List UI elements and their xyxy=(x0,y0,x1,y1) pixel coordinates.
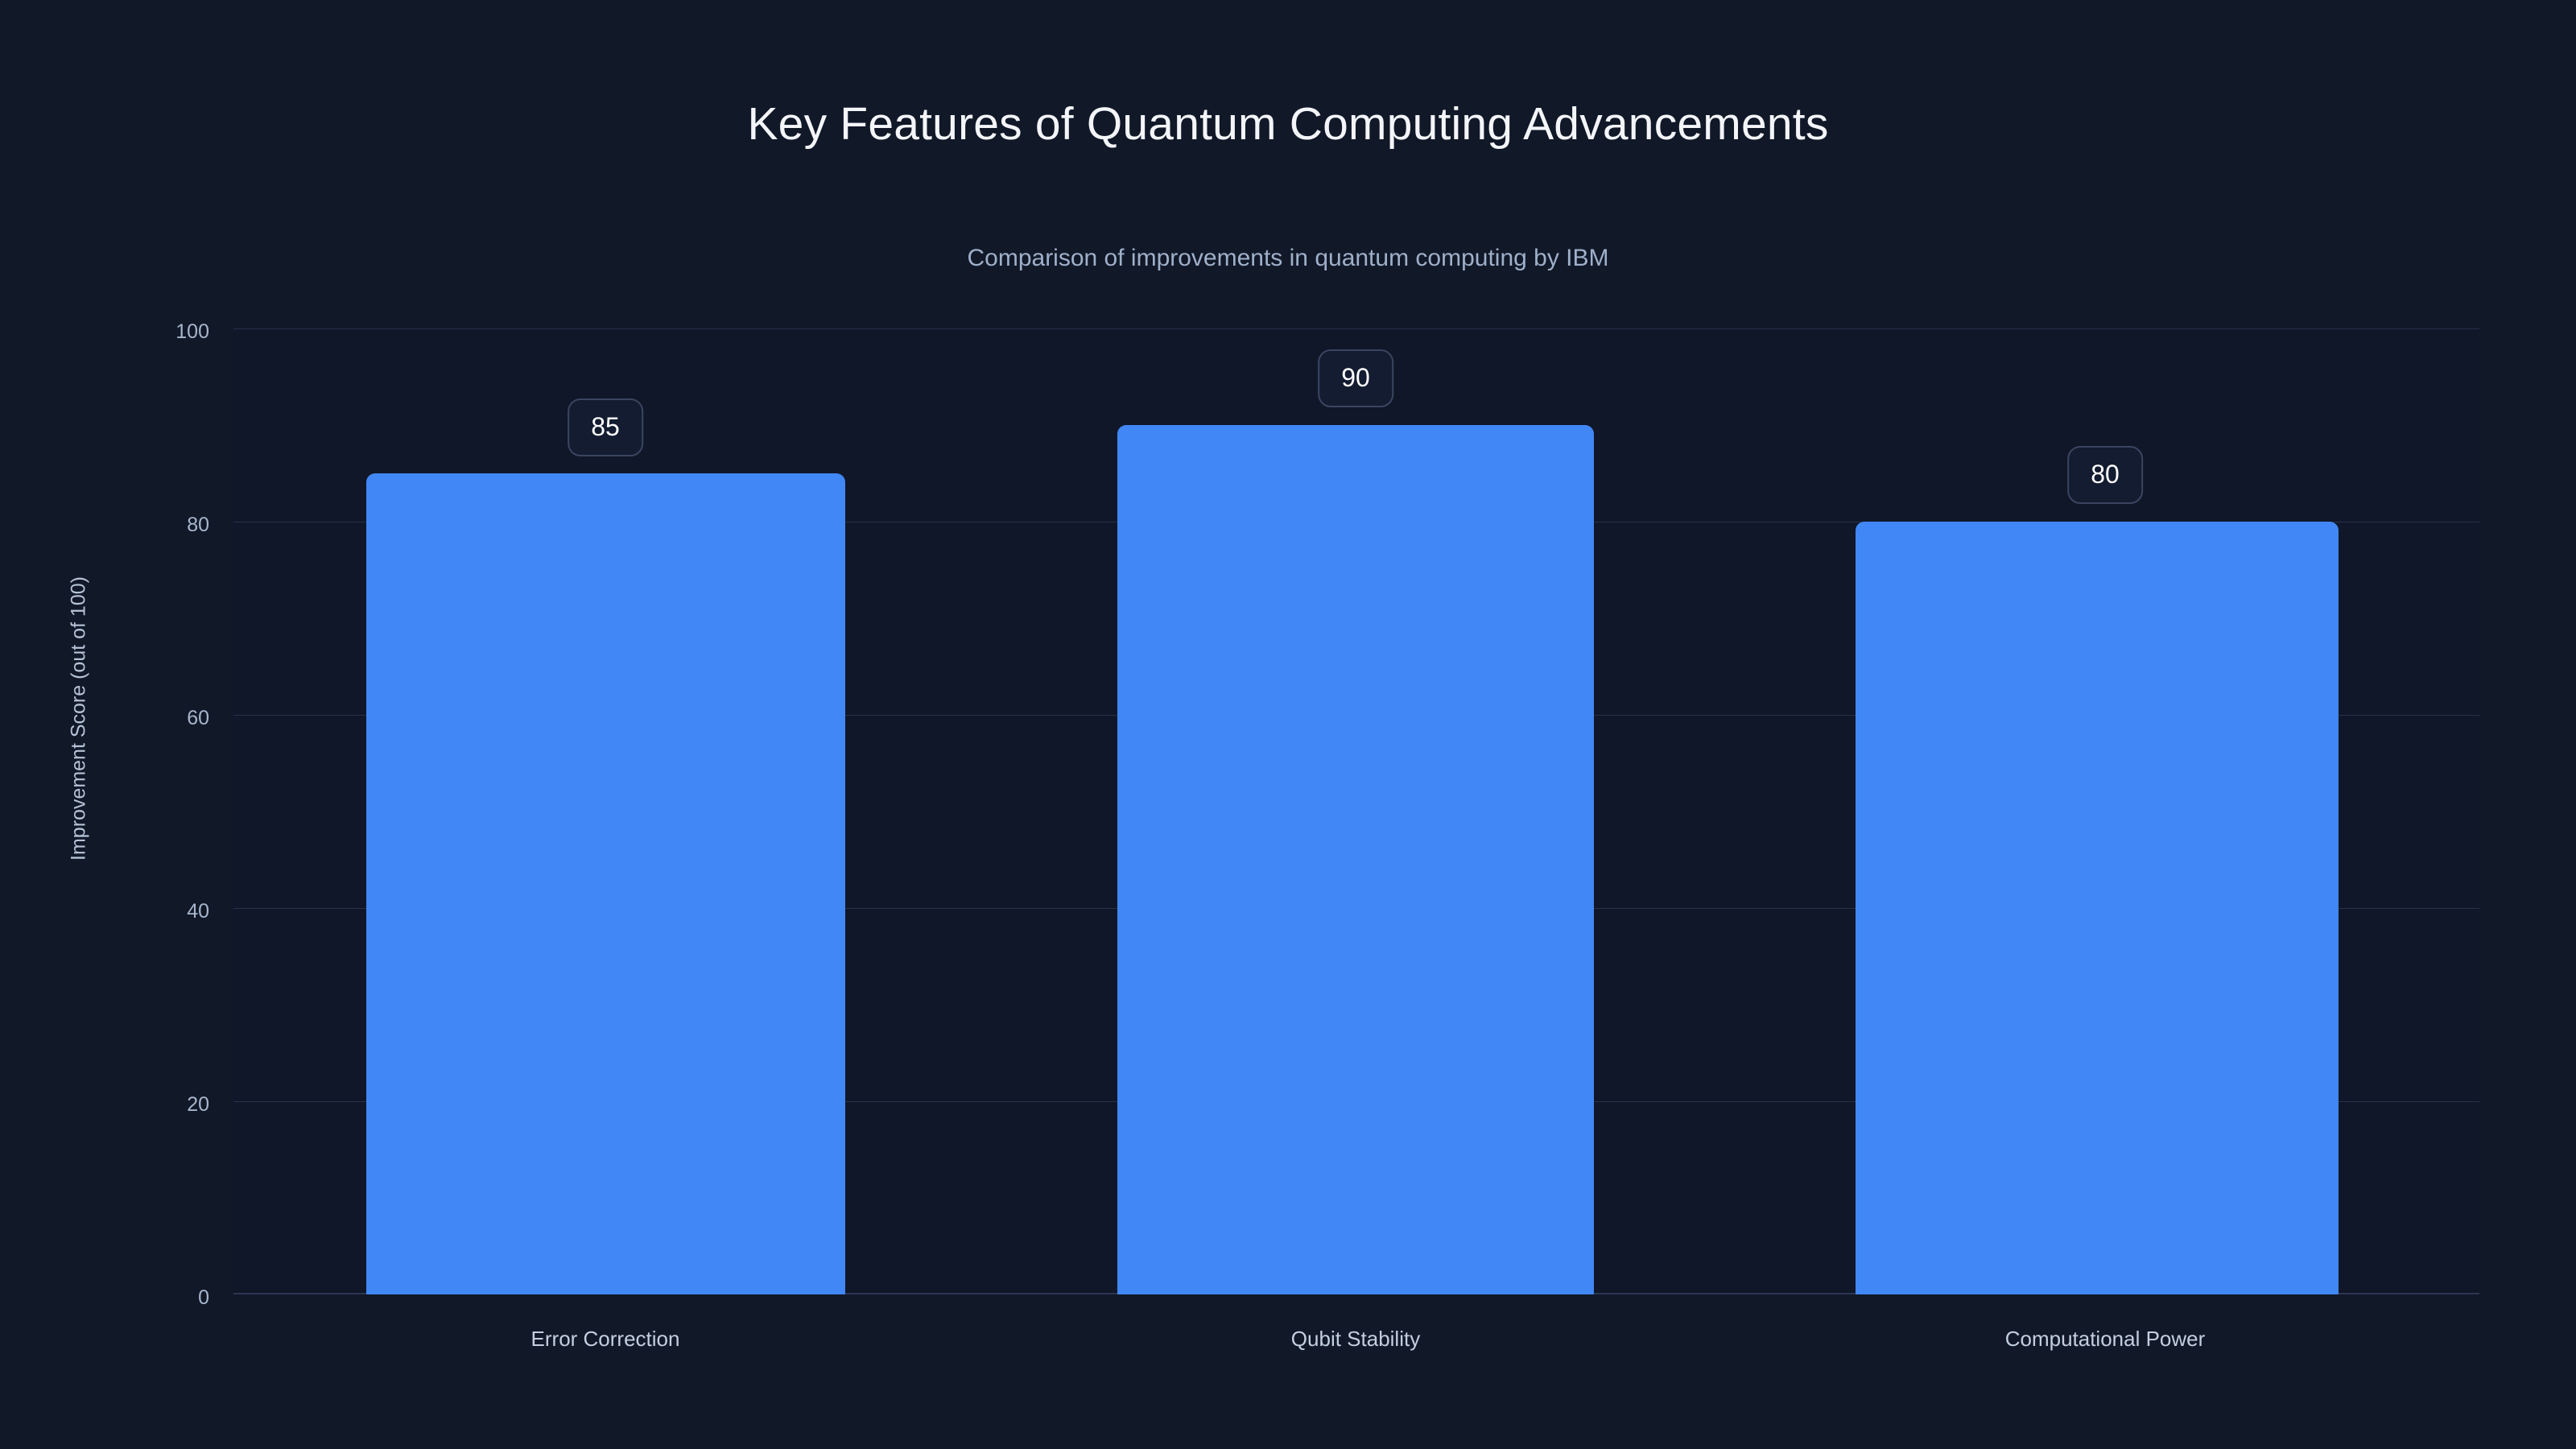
bar-computational-power[interactable] xyxy=(1856,522,2339,1294)
x-tick-label-error-correction: Error Correction xyxy=(531,1328,680,1349)
bar-error-correction[interactable] xyxy=(366,473,845,1294)
x-tick-label-computational-power: Computational Power xyxy=(2005,1328,2206,1349)
y-tick-label-80: 80 xyxy=(113,515,209,535)
y-tick-label-0: 0 xyxy=(113,1288,209,1308)
y-tick-label-60: 60 xyxy=(113,708,209,729)
y-tick-label-100: 100 xyxy=(113,322,209,342)
gridline-100 xyxy=(233,328,2479,329)
data-label-qubit-stability: 90 xyxy=(1318,349,1393,407)
chart-title: Key Features of Quantum Computing Advanc… xyxy=(0,101,2576,147)
chart-container: Key Features of Quantum Computing Advanc… xyxy=(0,0,2576,1449)
x-tick-label-qubit-stability: Qubit Stability xyxy=(1291,1328,1420,1349)
y-axis-title: Improvement Score (out of 100) xyxy=(69,518,89,920)
data-label-error-correction: 85 xyxy=(568,398,643,456)
bar-qubit-stability[interactable] xyxy=(1117,425,1594,1294)
y-tick-label-20: 20 xyxy=(113,1095,209,1115)
data-label-computational-power: 80 xyxy=(2067,446,2143,504)
y-tick-label-40: 40 xyxy=(113,902,209,922)
chart-subtitle: Comparison of improvements in quantum co… xyxy=(0,246,2576,270)
